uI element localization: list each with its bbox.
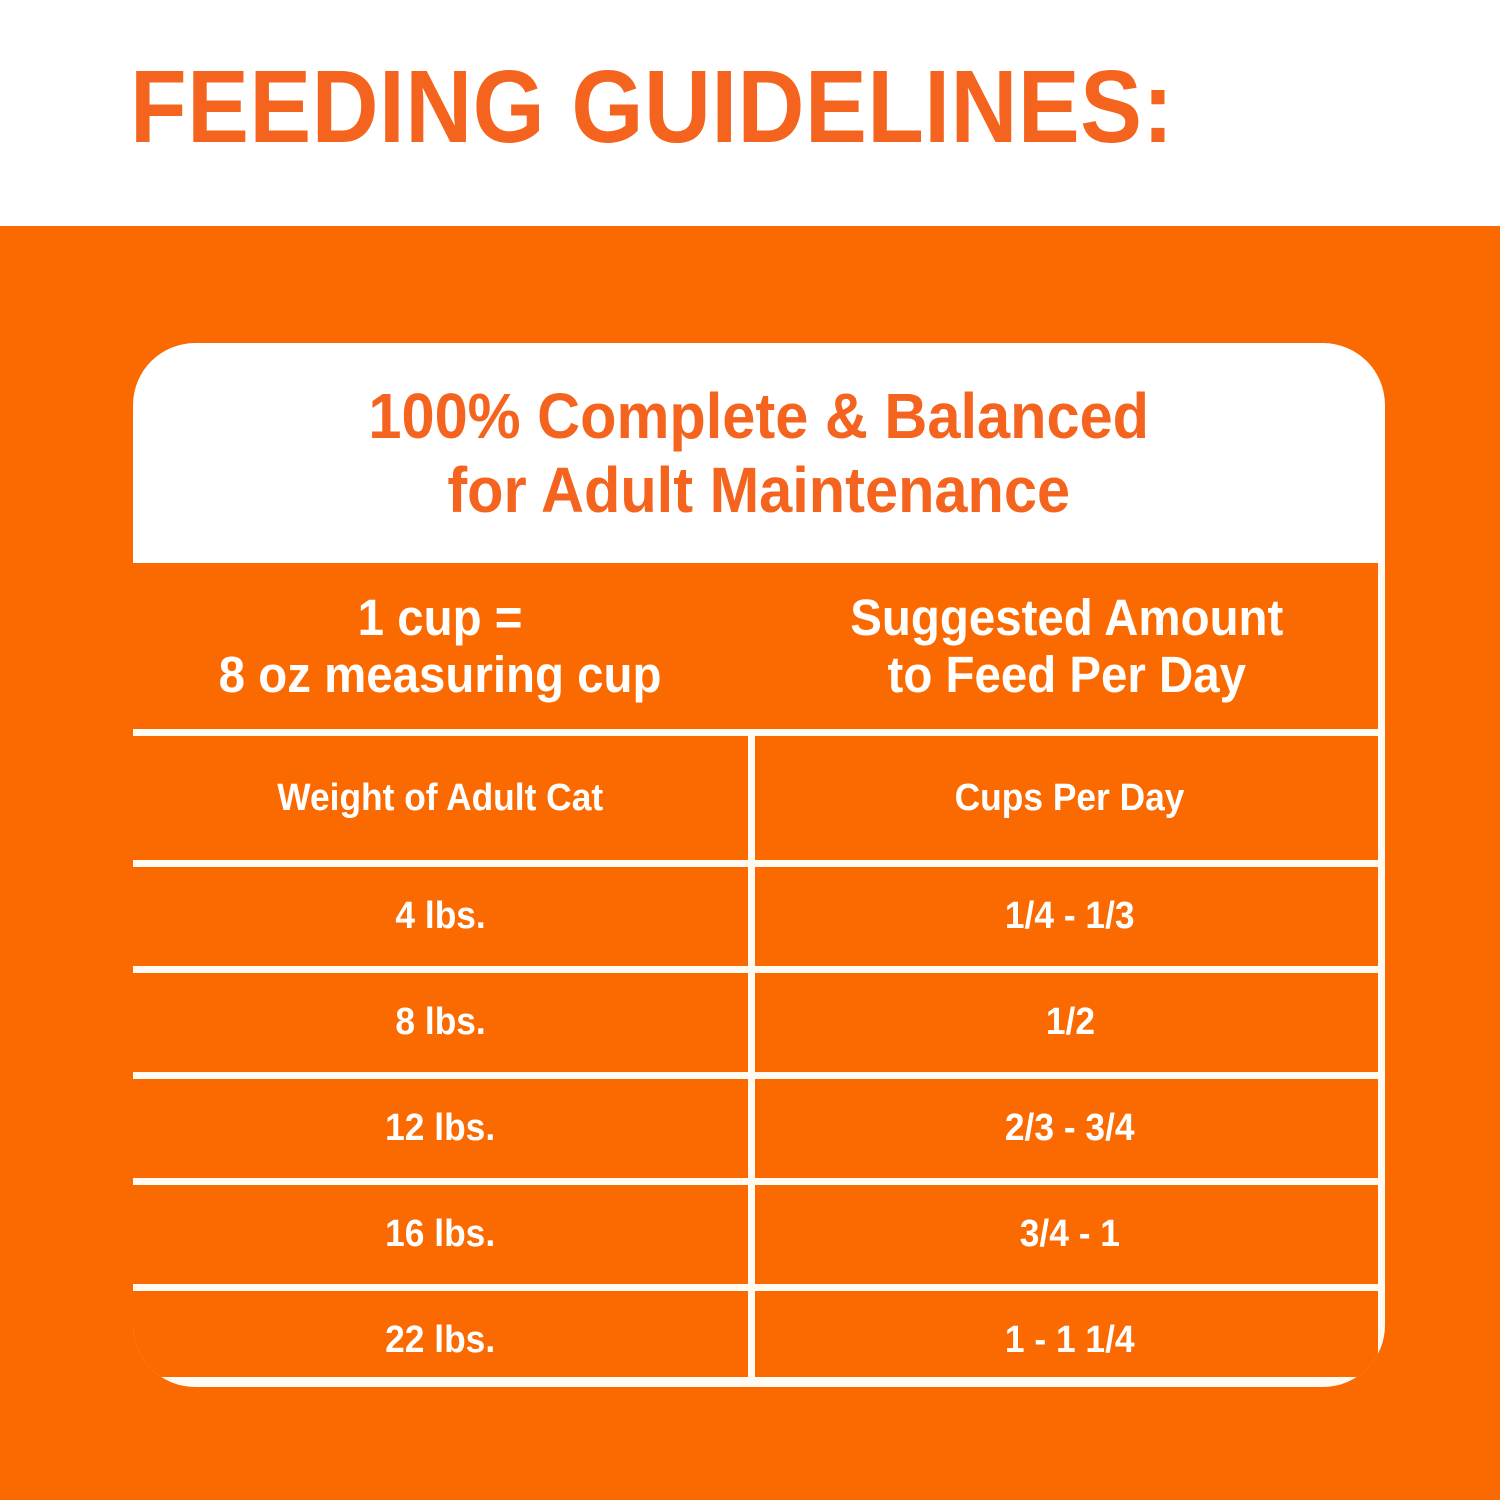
table-cell-weight: 22 lbs. bbox=[133, 1291, 748, 1387]
table-cell-cups-text: 1/4 - 1/3 bbox=[1005, 895, 1135, 938]
table-cell-weight: 12 lbs. bbox=[133, 1079, 748, 1178]
feeding-guidelines-card: 100% Complete & Balanced for Adult Maint… bbox=[133, 343, 1385, 1387]
table-cell-weight-text: 16 lbs. bbox=[385, 1213, 495, 1256]
table-column-header-weight: Weight of Adult Cat bbox=[133, 736, 748, 860]
table-subheader-row: Weight of Adult Cat Cups Per Day bbox=[133, 736, 1385, 860]
table-column-header-cups: Cups Per Day bbox=[755, 736, 1385, 860]
table-row: 16 lbs. 3/4 - 1 bbox=[133, 1185, 1385, 1284]
table-cell-cups-text: 1/2 bbox=[1045, 1001, 1094, 1044]
table-header-cell-cup-definition: 1 cup = 8 oz measuring cup bbox=[133, 563, 748, 729]
table-header-cell-suggested-amount: Suggested Amount to Feed Per Day bbox=[748, 563, 1385, 729]
table-cell-cups-text: 1 - 1 1/4 bbox=[1005, 1319, 1135, 1362]
page-header-band: FEEDING GUIDELINES: bbox=[0, 0, 1500, 226]
table-cell-cups-text: 2/3 - 3/4 bbox=[1005, 1107, 1135, 1150]
table-header-row: 1 cup = 8 oz measuring cup Suggested Amo… bbox=[133, 563, 1385, 729]
card-heading: 100% Complete & Balanced for Adult Maint… bbox=[133, 343, 1385, 563]
table-cell-weight-text: 12 lbs. bbox=[385, 1107, 495, 1150]
table-cell-weight-text: 4 lbs. bbox=[395, 895, 485, 938]
table-cell-cups: 1/4 - 1/3 bbox=[755, 867, 1385, 966]
table-cell-weight-text: 22 lbs. bbox=[385, 1319, 495, 1362]
table-cell-weight: 8 lbs. bbox=[133, 973, 748, 1072]
table-column-header-weight-text: Weight of Adult Cat bbox=[278, 777, 604, 820]
table-header-suggested-amount-text: Suggested Amount to Feed Per Day bbox=[850, 589, 1283, 703]
table-cell-weight: 16 lbs. bbox=[133, 1185, 748, 1284]
card-heading-text: 100% Complete & Balanced for Adult Maint… bbox=[369, 379, 1150, 527]
table-row: 12 lbs. 2/3 - 3/4 bbox=[133, 1079, 1385, 1178]
table-cell-cups-text: 3/4 - 1 bbox=[1020, 1213, 1120, 1256]
table-row: 4 lbs. 1/4 - 1/3 bbox=[133, 867, 1385, 966]
table-cell-cups: 3/4 - 1 bbox=[755, 1185, 1385, 1284]
page-title: FEEDING GUIDELINES: bbox=[130, 52, 1174, 162]
table-cell-cups: 2/3 - 3/4 bbox=[755, 1079, 1385, 1178]
table-row: 8 lbs. 1/2 bbox=[133, 973, 1385, 1072]
table-cell-cups: 1 - 1 1/4 bbox=[755, 1291, 1385, 1387]
table-cell-cups: 1/2 bbox=[755, 973, 1385, 1072]
table-cell-weight-text: 8 lbs. bbox=[395, 1001, 485, 1044]
table-header-cup-definition-text: 1 cup = 8 oz measuring cup bbox=[219, 589, 662, 703]
table-bottom-edge-padding bbox=[133, 1377, 1385, 1387]
table-row: 22 lbs. 1 - 1 1/4 bbox=[133, 1291, 1385, 1387]
table-right-edge-padding bbox=[1378, 563, 1385, 1387]
table-cell-weight: 4 lbs. bbox=[133, 867, 748, 966]
feeding-table: 1 cup = 8 oz measuring cup Suggested Amo… bbox=[133, 563, 1385, 1387]
table-column-header-cups-text: Cups Per Day bbox=[955, 777, 1185, 820]
